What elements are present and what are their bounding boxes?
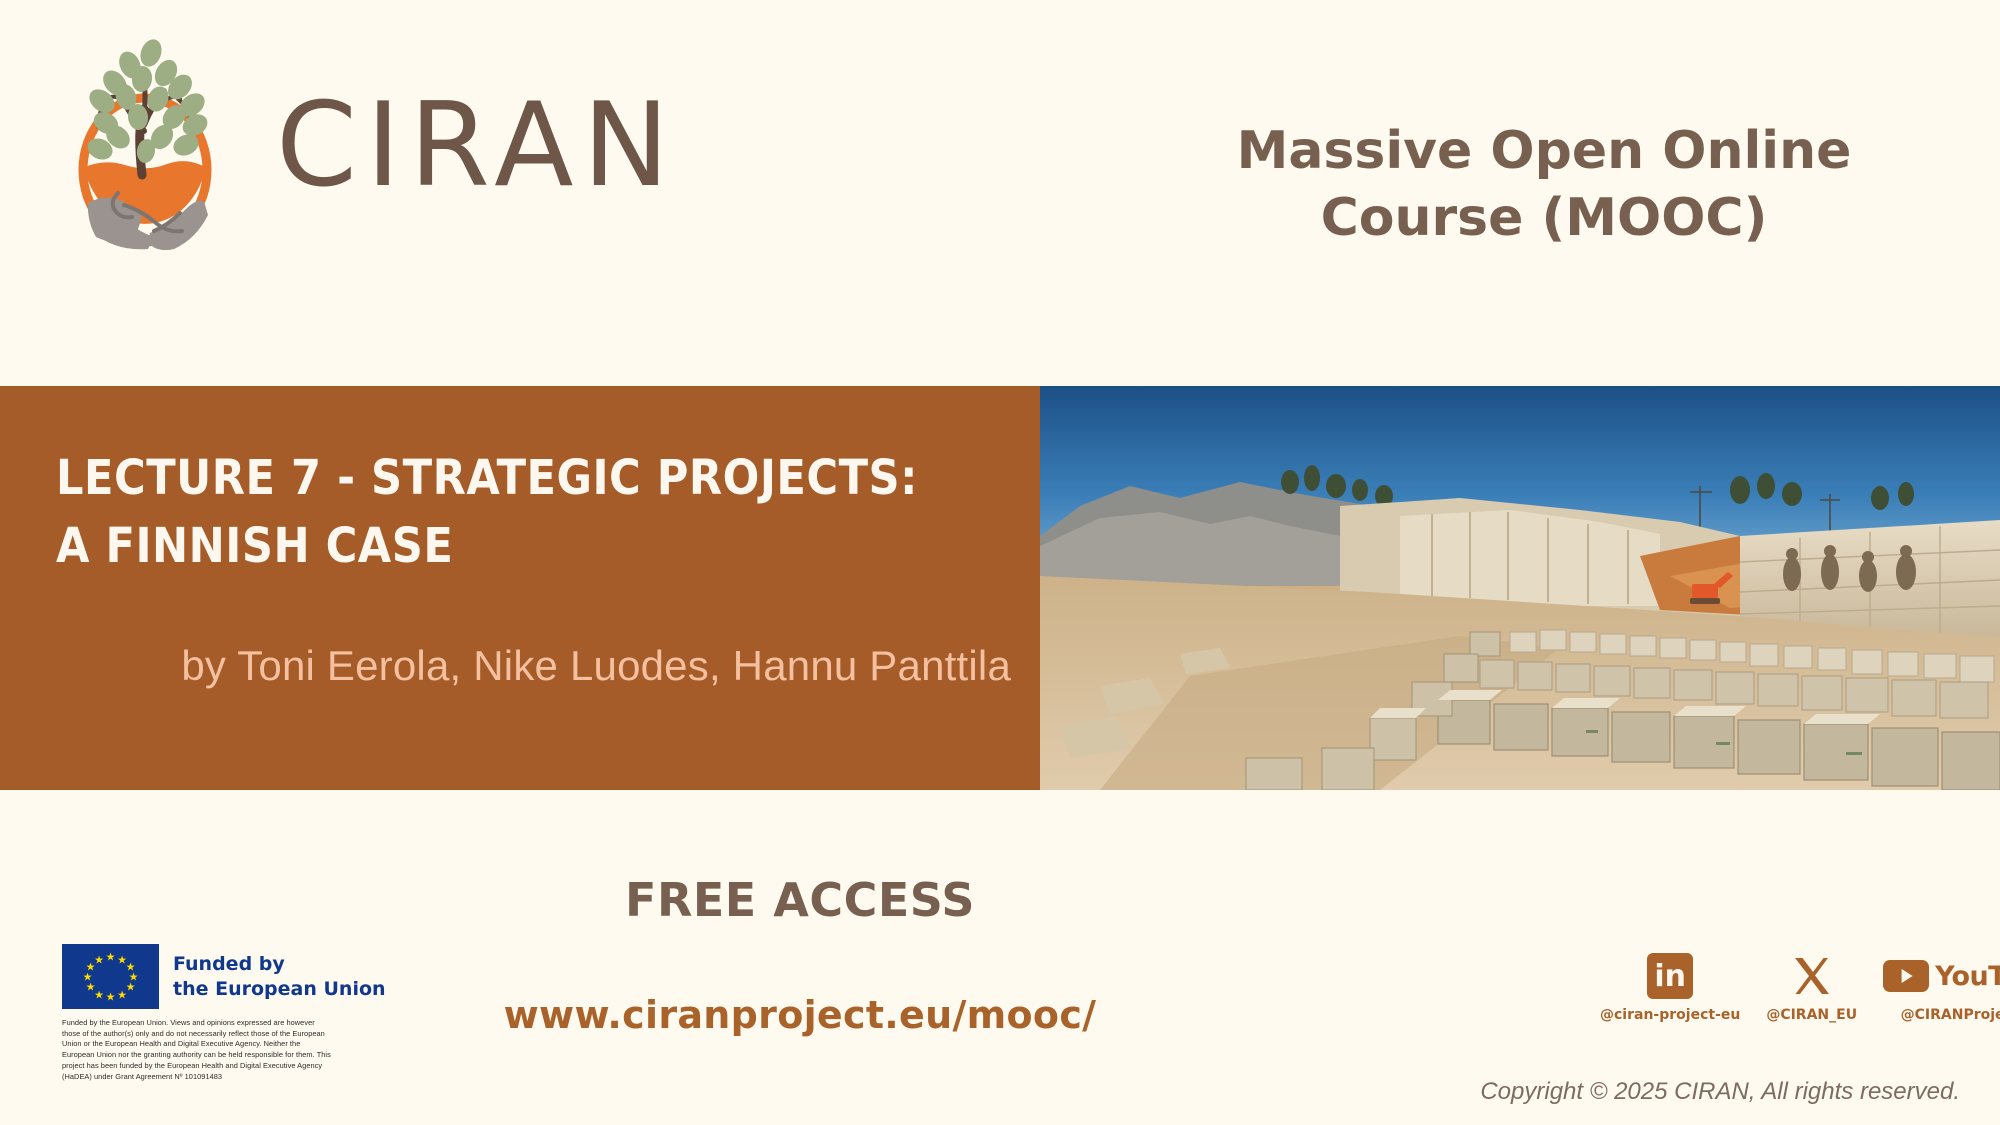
linkedin-icon[interactable] — [1647, 952, 1693, 1000]
free-access-label: FREE ACCESS — [400, 873, 1200, 927]
linkedin-handle: @ciran-project-eu — [1600, 1007, 1740, 1023]
header: CIRAN Massive Open Online Course (MOOC) — [0, 0, 2000, 386]
eu-disclaimer-text: Funded by the European Union. Views and … — [62, 1018, 334, 1082]
social-link-youtube[interactable]: YouTube @CIRANProjectEU — [1883, 952, 2000, 1023]
eu-flag-icon: ★ ★ ★ ★ ★ ★ ★ ★ ★ ★ ★ ★ — [62, 944, 159, 1009]
youtube-handle: @CIRANProjectEU — [1901, 1007, 2000, 1023]
social-links: @ciran-project-eu @CIRAN_EU YouTube @CIR… — [1600, 952, 2000, 1023]
lecture-title-line1: LECTURE 7 - STRATEGIC PROJECTS: — [56, 444, 986, 512]
mooc-heading-line2: Course (MOOC) — [1154, 185, 1934, 252]
tree-handshake-logo-icon — [58, 25, 258, 250]
social-link-x[interactable]: @CIRAN_EU — [1766, 952, 1857, 1023]
copyright-text: Copyright © 2025 CIRAN, All rights reser… — [1480, 1078, 1960, 1106]
lecture-banner-panel: LECTURE 7 - STRATEGIC PROJECTS: A FINNIS… — [0, 386, 1040, 790]
lecture-title-line2: A FINNISH CASE — [56, 512, 986, 580]
mooc-heading: Massive Open Online Course (MOOC) — [1154, 118, 1934, 251]
eu-funded-line2: the European Union — [173, 977, 386, 1001]
eu-funding-block: ★ ★ ★ ★ ★ ★ ★ ★ ★ ★ ★ ★ Funded by the Eu… — [62, 944, 392, 1082]
x-handle: @CIRAN_EU — [1766, 1007, 1857, 1023]
logo-wordmark: CIRAN — [276, 70, 678, 204]
lecture-banner: LECTURE 7 - STRATEGIC PROJECTS: A FINNIS… — [0, 386, 2000, 790]
youtube-icon[interactable]: YouTube — [1883, 952, 2000, 1000]
mooc-url-link[interactable]: www.ciranproject.eu/mooc/ — [400, 993, 1200, 1037]
x-twitter-icon[interactable] — [1790, 952, 1834, 1000]
eu-funding-emblem: ★ ★ ★ ★ ★ ★ ★ ★ ★ ★ ★ ★ Funded by the Eu… — [62, 944, 392, 1009]
mooc-heading-line1: Massive Open Online — [1154, 118, 1934, 185]
eu-funded-line1: Funded by — [173, 952, 386, 976]
quarry-photo — [1040, 386, 2000, 790]
lecture-title: LECTURE 7 - STRATEGIC PROJECTS: A FINNIS… — [56, 444, 986, 580]
lecture-authors: by Toni Eerola, Nike Luodes, Hannu Pantt… — [56, 642, 1011, 690]
youtube-wordmark: YouTube — [1935, 961, 2000, 992]
eu-funded-text: Funded by the European Union — [173, 952, 386, 1001]
brand-logo[interactable]: CIRAN — [58, 22, 698, 252]
slide-canvas: CIRAN Massive Open Online Course (MOOC) … — [0, 0, 2000, 1125]
social-link-linkedin[interactable]: @ciran-project-eu — [1600, 952, 1740, 1023]
quarry-photo-illustration — [1040, 386, 2000, 790]
